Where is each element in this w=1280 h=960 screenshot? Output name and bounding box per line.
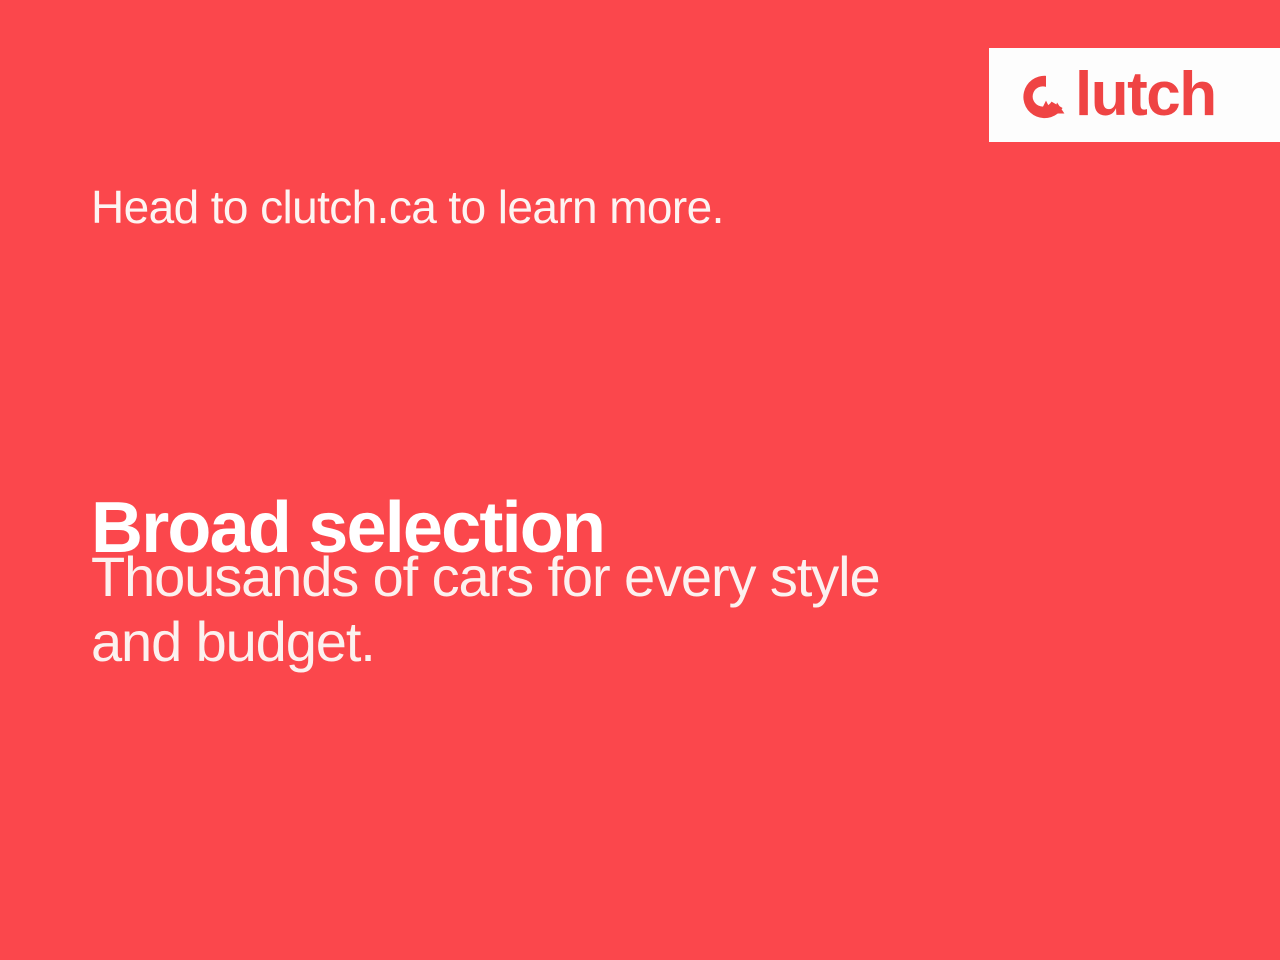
subheading: Thousands of cars for every style and bu… xyxy=(91,545,1051,675)
subheading-line-1: Thousands of cars for every style xyxy=(91,545,1051,610)
brand-logo-plate: lutch xyxy=(989,48,1280,142)
subheading-line-2: and budget. xyxy=(91,610,1051,675)
kicker-text: Head to clutch.ca to learn more. xyxy=(91,181,724,234)
clutch-wordmark: lutch xyxy=(1075,64,1216,126)
slide-canvas: lutch Head to clutch.ca to learn more. B… xyxy=(0,0,1280,960)
clutch-logo[interactable]: lutch xyxy=(1023,64,1216,126)
clutch-c-mark-icon xyxy=(1023,74,1069,120)
